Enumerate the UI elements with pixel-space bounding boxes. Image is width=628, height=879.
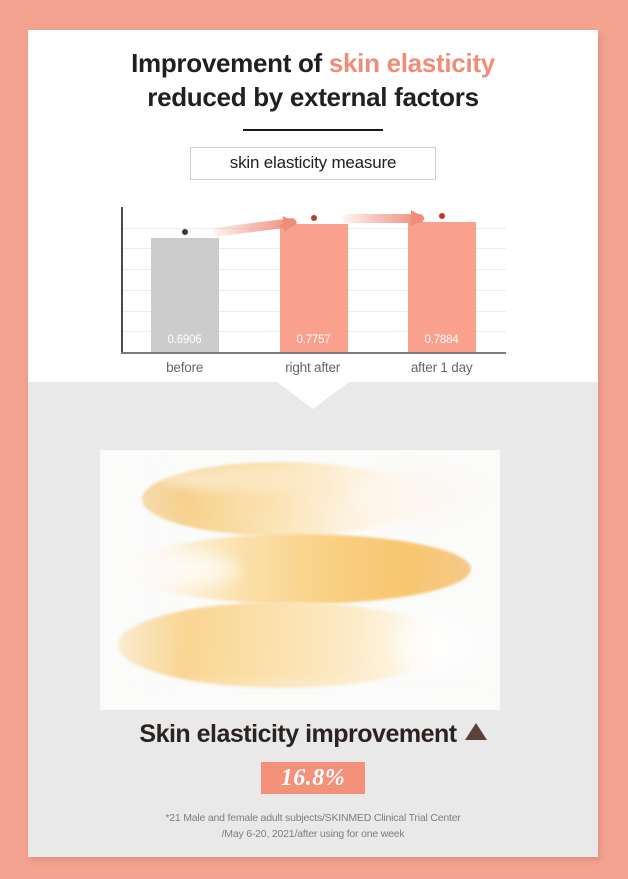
up-triangle-icon	[465, 723, 487, 740]
chart-x-tick-labels: beforeright afterafter 1 day	[121, 360, 506, 382]
bar-right-after[interactable]: 0.7757	[280, 224, 348, 352]
improvement-percent-badge: 16.8%	[261, 762, 365, 794]
headline-accent: skin elasticity	[329, 48, 495, 78]
title-divider	[243, 129, 383, 131]
x-tick-before: before	[121, 360, 249, 375]
data-point-marker	[182, 229, 188, 235]
bar-fill: 0.7757	[280, 224, 348, 352]
product-swatch-image	[100, 450, 500, 710]
skin-elasticity-bar-chart: 0.69060.77570.7884 beforeright afterafte…	[121, 207, 506, 382]
bar-value-label: 0.7884	[408, 334, 476, 346]
x-tick-right-after: right after	[249, 360, 377, 375]
headline-line2: reduced by external factors	[147, 82, 478, 112]
chart-panel: Improvement of skin elasticity reduced b…	[28, 30, 598, 382]
page-title: Improvement of skin elasticity reduced b…	[28, 46, 598, 115]
measure-label-text: skin elasticity measure	[230, 153, 396, 173]
bar-before[interactable]: 0.6906	[151, 238, 219, 352]
promo-card: Improvement of skin elasticity reduced b…	[28, 30, 598, 857]
bar-fill: 0.6906	[151, 238, 219, 352]
footnote-line-2: /May 6-20, 2021/after using for one week	[222, 828, 405, 840]
result-headline: Skin elasticity improvement	[28, 720, 598, 749]
bar-fill: 0.7884	[408, 222, 476, 352]
result-panel: Skin elasticity improvement 16.8% *21 Ma…	[28, 382, 598, 857]
trend-arrow	[342, 214, 424, 223]
data-point-marker	[311, 215, 317, 221]
data-point-marker	[439, 213, 445, 219]
x-tick-after-1-day: after 1 day	[378, 360, 506, 375]
chart-x-axis	[121, 352, 506, 354]
chart-plot-area: 0.69060.77570.7884	[121, 207, 506, 354]
bar-value-label: 0.6906	[151, 334, 219, 346]
study-footnote: *21 Male and female adult subjects/SKINM…	[28, 810, 598, 843]
result-headline-text: Skin elasticity improvement	[139, 720, 456, 748]
bar-value-label: 0.7757	[280, 334, 348, 346]
improvement-percent-value: 16.8%	[281, 765, 346, 792]
headline-line1-pre: Improvement of	[131, 48, 329, 78]
measure-label-box: skin elasticity measure	[190, 147, 436, 180]
bar-after-1-day[interactable]: 0.7884	[408, 222, 476, 352]
footnote-line-1: *21 Male and female adult subjects/SKINM…	[165, 812, 460, 824]
